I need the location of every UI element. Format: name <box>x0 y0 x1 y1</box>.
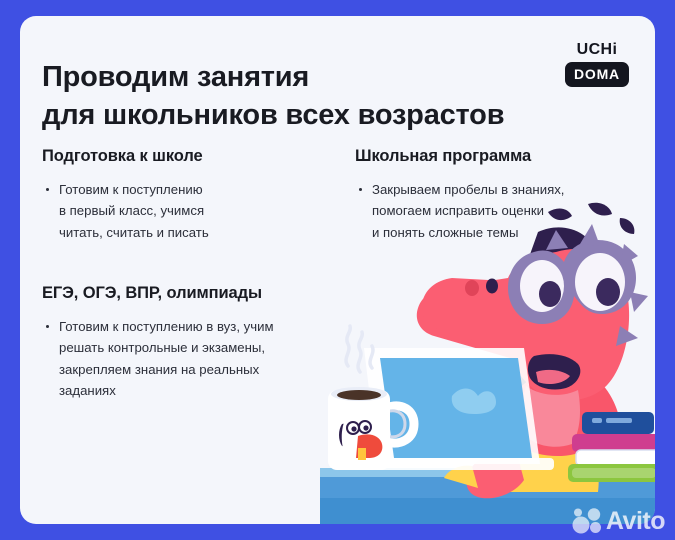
bullet-line: заданиях <box>59 380 352 401</box>
section-heading-school-program: Школьная программа <box>355 147 655 167</box>
eyebrow-left <box>548 209 572 221</box>
illustration-dinosaur-studying <box>320 196 655 524</box>
bullet-line: закрепляем знания на реальных <box>59 359 352 380</box>
bullet-line: читать, считать и писать <box>59 222 342 243</box>
logo-wordmark-top: UCHi <box>561 42 633 58</box>
poster: UCHi DOMA Проводим занятия для школьнико… <box>0 0 675 540</box>
steam <box>346 326 350 366</box>
section-preschool: Подготовка к школе Готовим к поступлению… <box>42 147 342 243</box>
content-card: UCHi DOMA Проводим занятия для школьнико… <box>20 16 655 524</box>
bullet-list-exams: Готовим к поступлению в вуз, учим решать… <box>42 316 352 402</box>
bullet-line: Готовим к поступлению в вуз, учим <box>59 316 352 337</box>
bullet-list-preschool: Готовим к поступлению в первый класс, уч… <box>42 179 342 243</box>
bullet-line: в первый класс, учимся <box>59 200 342 221</box>
list-item: Готовим к поступлению в вуз, учим решать… <box>42 316 352 402</box>
nostril-left <box>465 280 479 296</box>
pupil-left <box>539 281 561 307</box>
laptop-logo <box>452 389 496 415</box>
section-heading-preschool: Подготовка к школе <box>42 147 342 167</box>
eyebrow-right <box>588 203 612 216</box>
page-title: Проводим занятия для школьников всех воз… <box>42 59 562 133</box>
list-item: Готовим к поступлению в первый класс, уч… <box>42 179 342 243</box>
pupil-right <box>596 278 620 306</box>
uchi-doma-logo: UCHi DOMA <box>561 42 633 87</box>
book-white <box>576 450 655 466</box>
page-title-line-2: для школьников всех возрастов <box>42 97 562 134</box>
nostril-right <box>486 279 498 294</box>
bullet-line: Готовим к поступлению <box>59 179 342 200</box>
section-heading-exams: ЕГЭ, ОГЭ, ВПР, олимпиады <box>42 284 352 304</box>
logo-wordmark-bottom: DOMA <box>565 62 629 87</box>
bullet-line: решать контрольные и экзамены, <box>59 337 352 358</box>
page-title-line-1: Проводим занятия <box>42 59 562 96</box>
coffee <box>337 390 381 400</box>
section-exams: ЕГЭ, ОГЭ, ВПР, олимпиады Готовим к посту… <box>42 284 352 401</box>
